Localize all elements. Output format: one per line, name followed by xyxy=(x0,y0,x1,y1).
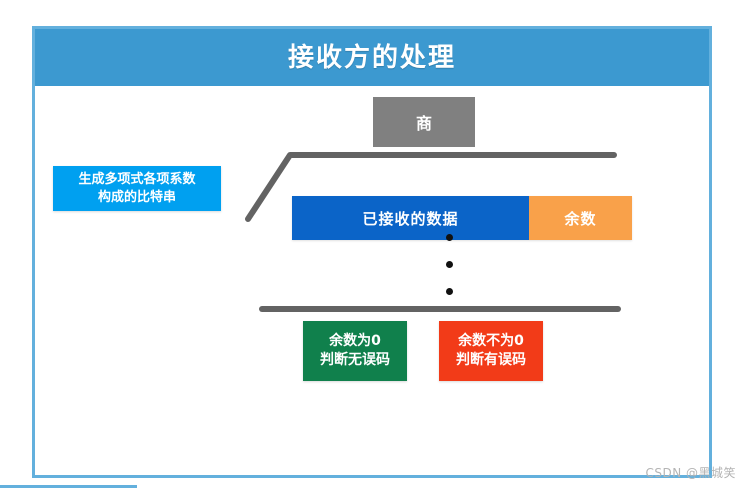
slide-header: 接收方的处理 xyxy=(35,29,709,86)
result-box-no-error: 余数为0 判断无误码 xyxy=(303,321,407,381)
generator-polynomial-label: 生成多项式各项系数 构成的比特串 xyxy=(53,166,221,211)
result-no-error-line-1: 余数为0 xyxy=(329,332,381,351)
received-data-label: 已接收的数据 xyxy=(362,208,458,229)
remainder-label: 余数 xyxy=(564,208,596,229)
slide-body: 商 生成多项式各项系数 构成的比特串 已接收的数据 余数 xyxy=(35,86,709,475)
generator-polynomial-line-1: 生成多项式各项系数 xyxy=(78,171,195,189)
lower-divider-rule xyxy=(259,306,621,312)
page-title: 接收方的处理 xyxy=(288,45,456,71)
result-has-error-line-2: 判断有误码 xyxy=(456,351,526,370)
generator-polynomial-line-2: 构成的比特串 xyxy=(98,189,176,207)
quotient-label: 商 xyxy=(416,110,432,134)
bottom-edge-line xyxy=(0,485,137,488)
quotient-box: 商 xyxy=(373,97,475,147)
slide-frame: 接收方的处理 商 生成多项式各项系数 构成的比特串 已接收的数据 余数 xyxy=(32,26,712,478)
result-no-error-line-2: 判断无误码 xyxy=(320,351,390,370)
received-data-block: 已接收的数据 xyxy=(292,196,529,240)
result-box-has-error: 余数不为0 判断有误码 xyxy=(439,321,543,381)
remainder-block: 余数 xyxy=(529,196,632,240)
ellipsis-dot xyxy=(446,261,453,268)
ellipsis-dot xyxy=(446,288,453,295)
watermark: CSDN @黑城笑 xyxy=(645,464,736,481)
data-bar: 已接收的数据 余数 xyxy=(292,196,632,240)
result-has-error-line-1: 余数不为0 xyxy=(458,332,524,351)
